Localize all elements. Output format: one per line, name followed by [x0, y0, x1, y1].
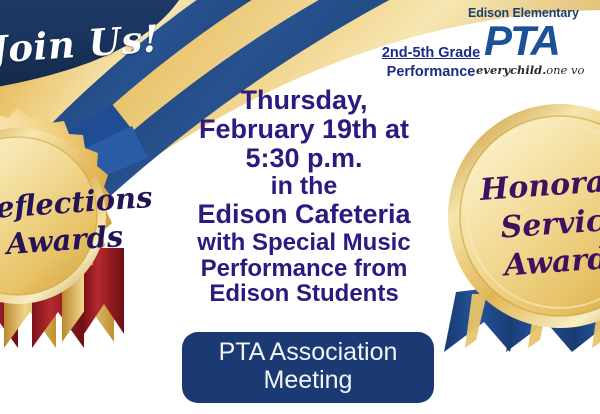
- event-line-music-1: with Special Music: [176, 230, 432, 256]
- grade-note-line-1: 2nd-5th Grade: [370, 44, 492, 63]
- join-us-banner: Join Us!: [0, 0, 176, 88]
- honorary-service-awards-medal: Honorary Service Awards: [432, 96, 600, 352]
- join-us-label: Join Us!: [0, 16, 161, 72]
- pta-tagline-rest: one vo: [546, 63, 584, 77]
- pta-tagline: everychild.one vo: [476, 63, 600, 77]
- pta-association-meeting-banner: PTA Association Meeting: [182, 332, 434, 403]
- event-line-music-3: Edison Students: [176, 281, 432, 307]
- event-line-music-2: Performance from: [176, 256, 432, 282]
- event-line-venue: Edison Cafeteria: [176, 200, 432, 229]
- event-line-day: Thursday,: [176, 86, 432, 115]
- grade-note-line-2: Performance: [370, 63, 492, 82]
- event-line-time: 5:30 p.m.: [176, 144, 432, 173]
- event-line-date: February 19th at: [176, 115, 432, 144]
- cta-line-2: Meeting: [186, 366, 430, 394]
- event-line-in-the: in the: [176, 173, 432, 200]
- pta-event-flyer: Join Us!: [0, 0, 600, 414]
- event-details: Thursday, February 19th at 5:30 p.m. in …: [176, 86, 432, 307]
- pta-wordmark: PTA: [484, 21, 600, 61]
- grade-performance-note: 2nd-5th Grade Performance: [370, 44, 492, 82]
- cta-line-1: PTA Association: [186, 338, 430, 366]
- reflections-awards-medal: Reflections Awards: [0, 98, 168, 348]
